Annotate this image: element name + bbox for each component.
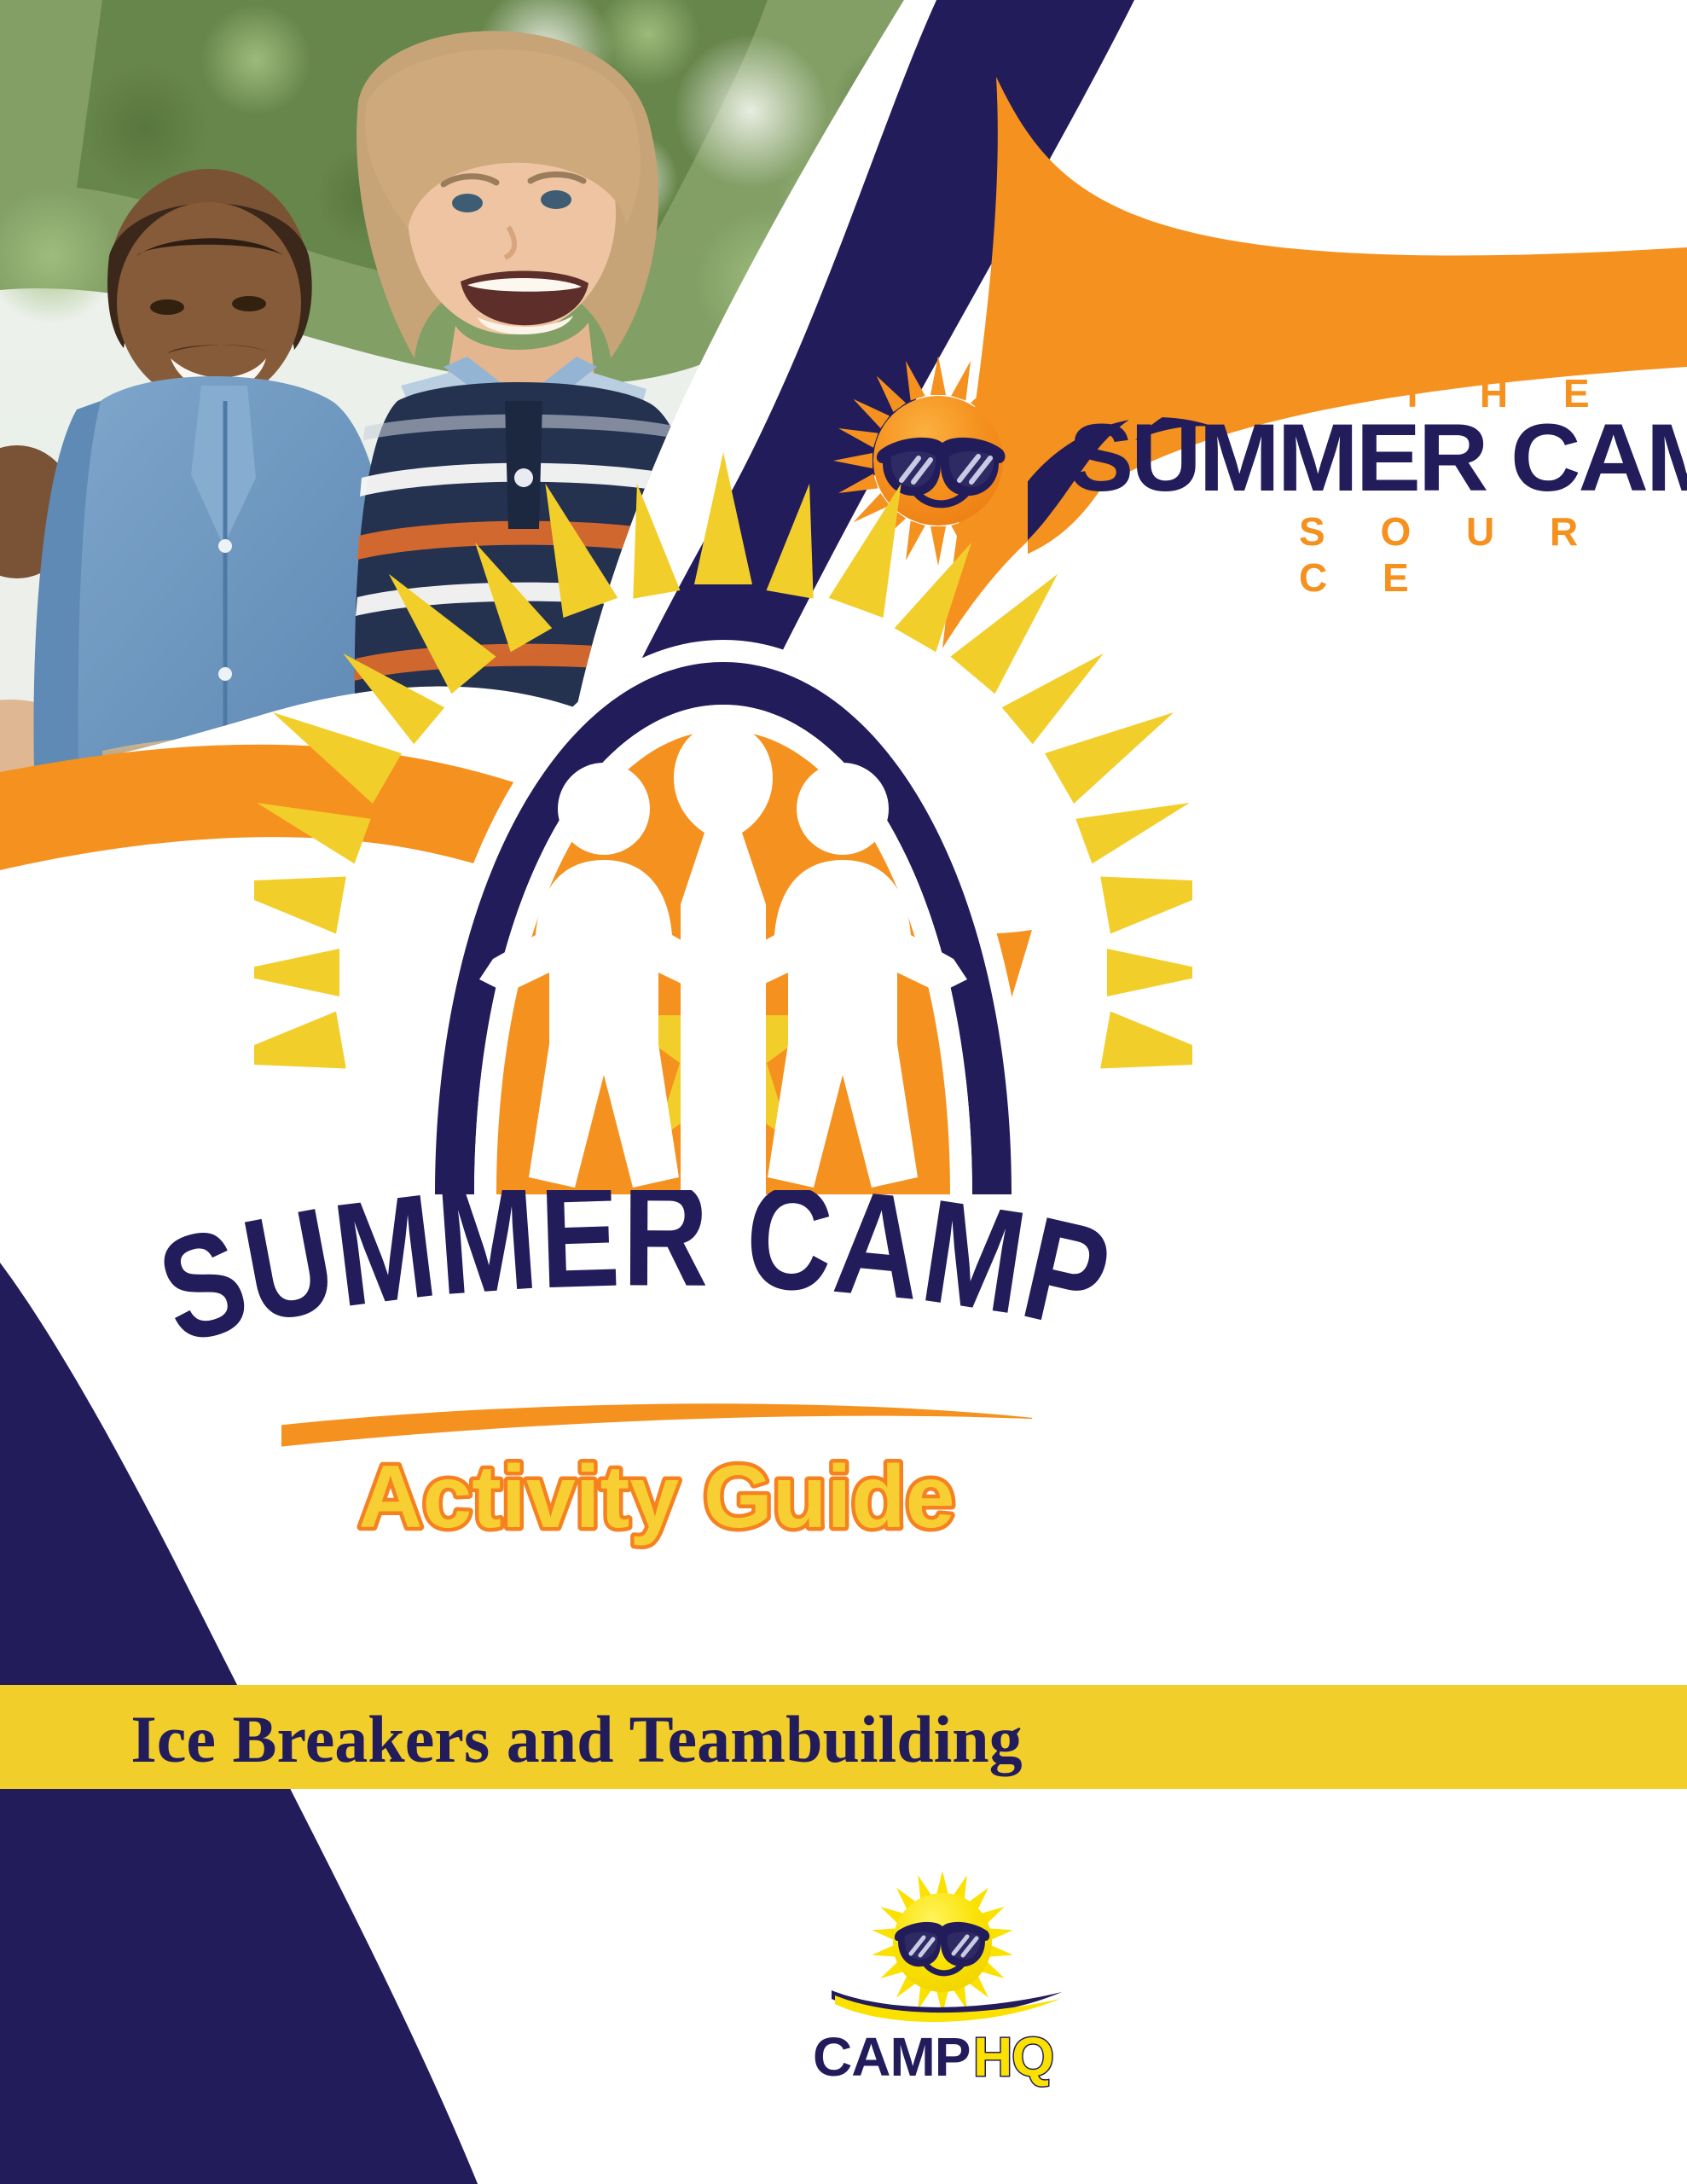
summer-camp-text: SUMMER CAMP [154, 1190, 1125, 1374]
subtitle-banner: Ice Breakers and Teambuilding [0, 1685, 1687, 1789]
summer-camp-sun-emblem [254, 427, 1192, 1194]
activity-guide-text: Activity Guide [358, 1448, 954, 1547]
brand-source-label: S O U R C E [1299, 508, 1650, 601]
camphq-logo: CAMP HQ [772, 1864, 1113, 2103]
camphq-camp-label: CAMP [813, 2026, 970, 2088]
subtitle-text: Ice Breakers and Teambuilding [130, 1702, 1022, 1776]
camphq-hq-label: HQ [973, 2026, 1053, 2088]
summer-camp-wordmark: SUMMER CAMP [154, 1190, 1160, 1412]
svg-text:SUMMER CAMP: SUMMER CAMP [154, 1190, 1125, 1374]
cover-page: T H E SUMMER CAMP S O U R C E [0, 0, 1687, 2184]
activity-guide-block: Activity Guide [281, 1399, 1032, 1570]
